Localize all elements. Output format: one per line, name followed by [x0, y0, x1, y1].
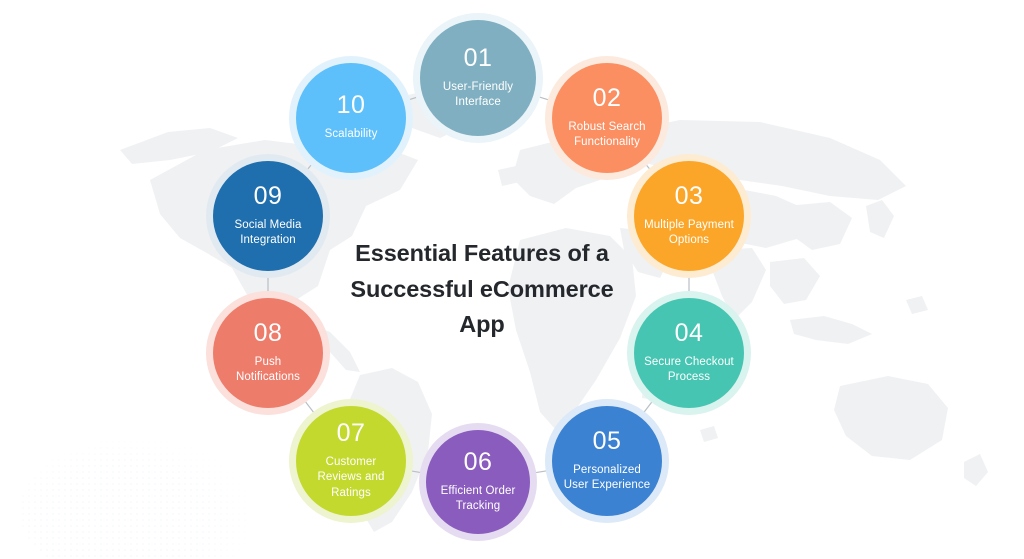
connector-05-to-06	[535, 471, 547, 473]
node-02[interactable]: 02Robust SearchFunctionality	[552, 63, 662, 173]
node-05[interactable]: 05PersonalizedUser Experience	[552, 406, 662, 516]
node-label-line: Options	[644, 233, 734, 248]
node-label: User-FriendlyInterface	[433, 80, 523, 111]
node-label: Secure CheckoutProcess	[634, 355, 744, 386]
page-title-line-2: Successful eCommerce	[332, 272, 632, 308]
node-label-line: Functionality	[568, 135, 645, 150]
dotted-texture-accent	[20, 439, 250, 559]
page-title-line-1: Essential Features of a	[332, 236, 632, 272]
node-label-line: Process	[644, 370, 734, 385]
node-number: 02	[593, 86, 622, 111]
infographic-canvas: Essential Features of a Successful eComm…	[0, 0, 1024, 559]
node-label-line: Integration	[234, 233, 301, 248]
node-number: 08	[254, 321, 283, 346]
node-label-line: Notifications	[236, 370, 300, 385]
node-07[interactable]: 07CustomerReviews andRatings	[296, 406, 406, 516]
connector-04-to-05	[644, 402, 652, 413]
node-10[interactable]: 10Scalability	[296, 63, 406, 173]
node-number: 06	[464, 450, 493, 475]
node-label-line: Interface	[443, 95, 513, 110]
node-09[interactable]: 09Social MediaIntegration	[213, 161, 323, 271]
node-number: 01	[464, 46, 493, 71]
connector-10-to-01	[409, 97, 417, 99]
page-title: Essential Features of a Successful eComm…	[332, 236, 632, 343]
node-label: Robust SearchFunctionality	[558, 120, 655, 151]
node-label-line: Scalability	[325, 127, 378, 142]
node-label: CustomerReviews andRatings	[308, 455, 395, 501]
node-label-line: Tracking	[441, 499, 516, 514]
connector-02-to-03	[646, 165, 650, 169]
node-label-line: Personalized	[564, 463, 651, 478]
node-label: PersonalizedUser Experience	[554, 463, 661, 494]
node-label-line: Push	[236, 355, 300, 370]
node-06[interactable]: 06Efficient OrderTracking	[426, 430, 530, 534]
node-08[interactable]: 08PushNotifications	[213, 298, 323, 408]
node-label-line: Multiple Payment	[644, 218, 734, 233]
node-label: Scalability	[315, 127, 388, 142]
node-label-line: Social Media	[234, 218, 301, 233]
connector-09-to-10	[307, 165, 311, 170]
node-label: Social MediaIntegration	[224, 218, 311, 249]
node-03[interactable]: 03Multiple PaymentOptions	[634, 161, 744, 271]
node-number: 10	[337, 93, 366, 118]
node-label-line: Secure Checkout	[644, 355, 734, 370]
connector-01-to-02	[539, 97, 549, 100]
node-label-line: Robust Search	[568, 120, 645, 135]
node-label-line: Customer	[318, 455, 385, 470]
connector-07-to-08	[305, 401, 314, 412]
node-number: 05	[593, 429, 622, 454]
node-number: 09	[254, 184, 283, 209]
page-title-line-3: App	[332, 307, 632, 343]
node-01[interactable]: 01User-FriendlyInterface	[420, 20, 536, 136]
node-label-line: User-Friendly	[443, 80, 513, 95]
node-04[interactable]: 04Secure CheckoutProcess	[634, 298, 744, 408]
connector-06-to-07	[411, 471, 421, 473]
node-label-line: Reviews and	[318, 470, 385, 485]
node-label-line: User Experience	[564, 478, 651, 493]
node-number: 04	[675, 321, 704, 346]
node-label: PushNotifications	[226, 355, 310, 386]
node-label: Efficient OrderTracking	[431, 484, 526, 515]
node-label-line: Ratings	[318, 486, 385, 501]
node-number: 03	[675, 184, 704, 209]
node-label: Multiple PaymentOptions	[634, 218, 744, 249]
node-number: 07	[337, 421, 366, 446]
node-label-line: Efficient Order	[441, 484, 516, 499]
